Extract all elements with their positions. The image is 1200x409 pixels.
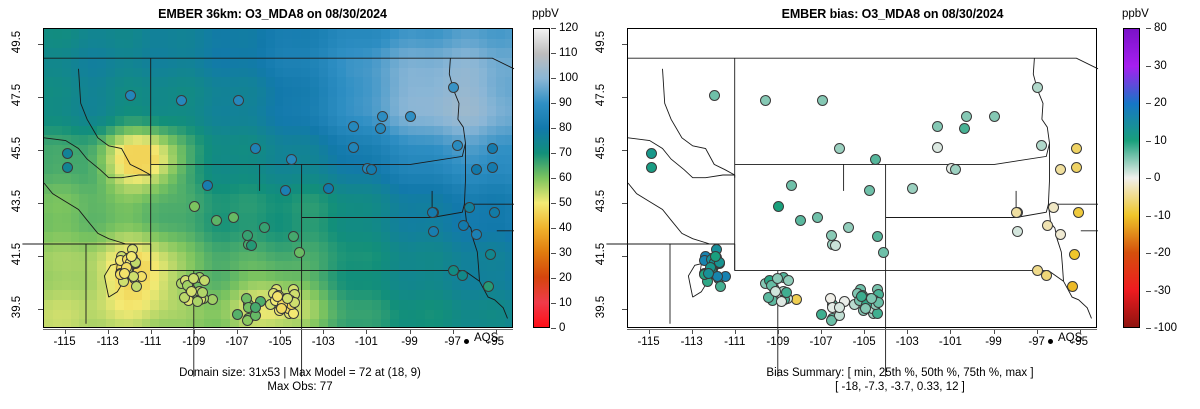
- x-tick-label: -99: [985, 336, 1002, 348]
- colorbar-tick-label: 80: [559, 122, 572, 134]
- x-tick-label: -97: [444, 336, 461, 348]
- station-marker: [710, 251, 721, 262]
- colorbar-tick: [1146, 178, 1151, 179]
- station-marker: [703, 268, 714, 279]
- panel-model-title: EMBER 36km: O3_MDA8 on 08/30/2024: [0, 7, 545, 21]
- station-marker: [288, 231, 299, 242]
- colorbar-tick: [1146, 216, 1151, 217]
- station-marker: [294, 247, 305, 258]
- panel-bias-title: EMBER bias: O3_MDA8 on 08/30/2024: [620, 7, 1165, 21]
- station-marker: [795, 215, 806, 226]
- station-marker: [228, 212, 239, 223]
- colorbar-tick-label: 0: [559, 322, 565, 334]
- station-marker: [817, 95, 828, 106]
- y-tick: [38, 150, 43, 151]
- station-marker: [452, 140, 463, 151]
- station-marker: [448, 82, 459, 93]
- colorbar-tick: [551, 253, 556, 254]
- figure-root: EMBER 36km: O3_MDA8 on 08/30/2024 AQS -1…: [0, 0, 1200, 409]
- colorbar-tick-label: 20: [1154, 97, 1167, 109]
- station-marker: [1055, 164, 1066, 175]
- station-marker: [366, 164, 377, 175]
- station-marker: [959, 123, 970, 134]
- station-marker: [1071, 162, 1082, 173]
- station-marker: [119, 268, 130, 279]
- station-marker: [872, 231, 883, 242]
- colorbar-tick-label: 10: [1154, 135, 1167, 147]
- y-tick: [38, 97, 43, 98]
- station-marker: [211, 215, 222, 226]
- station-marker: [834, 302, 845, 313]
- colorbar-tick-label: 0: [1154, 172, 1160, 184]
- station-marker: [131, 281, 142, 292]
- colorbar-tick: [1146, 66, 1151, 67]
- station-marker: [932, 121, 943, 132]
- station-marker: [348, 142, 359, 153]
- y-tick-label: 41.5: [595, 239, 607, 269]
- x-tick-label: -113: [97, 336, 119, 348]
- station-marker: [125, 90, 136, 101]
- y-tick-label: 49.5: [11, 27, 23, 57]
- station-marker: [715, 281, 726, 292]
- y-tick-label: 43.5: [595, 186, 607, 216]
- x-tick-label: -101: [355, 336, 378, 348]
- station-marker: [286, 154, 297, 165]
- station-marker: [932, 142, 943, 153]
- colorbar-tick-label: 30: [1154, 60, 1167, 72]
- station-marker: [186, 286, 197, 297]
- x-tick-label: -111: [724, 336, 745, 348]
- station-marker: [816, 309, 827, 320]
- colorbar-tick-label: 90: [559, 97, 572, 109]
- station-marker: [1012, 226, 1023, 237]
- station-marker: [405, 111, 416, 122]
- station-marker: [464, 202, 475, 213]
- x-tick-label: -101: [939, 336, 962, 348]
- colorbar-tick-label: -10: [1154, 210, 1171, 222]
- colorbar-tick: [551, 28, 556, 29]
- x-tick-label: -111: [140, 336, 161, 348]
- colorbar-tick: [551, 128, 556, 129]
- colorbar-tick: [551, 53, 556, 54]
- x-tick-label: -115: [637, 336, 659, 348]
- colorbar-tick-label: 110: [559, 47, 577, 59]
- panel-bias: EMBER bias: O3_MDA8 on 08/30/2024 AQS -1…: [600, 0, 1200, 409]
- bias-colorbar-unit: ppbV: [1122, 8, 1149, 20]
- colorbar-tick: [551, 153, 556, 154]
- station-marker: [812, 212, 823, 223]
- y-tick: [622, 203, 627, 204]
- y-tick-label: 39.5: [595, 292, 607, 322]
- station-marker: [458, 220, 469, 231]
- colorbar-tick-label: -30: [1154, 285, 1171, 297]
- station-marker: [773, 201, 784, 212]
- y-tick: [38, 256, 43, 257]
- station-marker: [62, 162, 73, 173]
- colorbar-tick-label: 60: [559, 172, 572, 184]
- bias-colorbar-ticks: -100-30-20-10010203080: [1115, 28, 1200, 328]
- colorbar-tick: [551, 278, 556, 279]
- bias-y-axis: 39.541.543.545.547.549.5: [584, 28, 627, 328]
- station-marker: [712, 271, 723, 282]
- station-marker: [870, 154, 881, 165]
- station-marker: [128, 271, 139, 282]
- station-marker: [276, 303, 287, 314]
- station-marker: [950, 164, 961, 175]
- station-marker: [428, 226, 439, 237]
- bias-caption-line2: [ -18, -7.3, -3.7, 0.33, 12 ]: [600, 380, 1200, 394]
- colorbar-tick-label: 120: [559, 22, 578, 34]
- colorbar-tick: [1146, 291, 1151, 292]
- bias-x-axis: -115-113-111-109-107-105-103-101-99-97-9…: [627, 329, 1097, 359]
- x-tick-label: -105: [269, 336, 292, 348]
- colorbar-tick-label: 30: [559, 247, 572, 259]
- station-marker: [377, 111, 388, 122]
- colorbar-tick-label: 100: [559, 72, 578, 84]
- colorbar-tick-label: -100: [1154, 322, 1177, 334]
- y-tick: [622, 150, 627, 151]
- station-marker: [188, 273, 199, 284]
- station-marker: [192, 296, 203, 307]
- station-marker: [866, 293, 877, 304]
- y-tick-label: 39.5: [11, 292, 23, 322]
- model-x-axis: -115-113-111-109-107-105-103-101-99-97-9…: [43, 329, 513, 359]
- station-marker: [232, 309, 243, 320]
- station-marker: [489, 207, 500, 218]
- station-marker: [989, 111, 1000, 122]
- station-marker: [282, 293, 293, 304]
- model-y-axis: 39.541.543.545.547.549.5: [0, 28, 43, 328]
- y-tick: [622, 309, 627, 310]
- x-tick-label: -99: [401, 336, 418, 348]
- colorbar-tick-label: 70: [559, 147, 572, 159]
- station-marker: [1036, 140, 1047, 151]
- model-caption-line1: Domain size: 31x53 | Max Model = 72 at (…: [0, 366, 600, 380]
- station-marker: [126, 251, 137, 262]
- x-tick-label: -113: [681, 336, 703, 348]
- x-tick-label: -115: [53, 336, 75, 348]
- y-tick: [622, 44, 627, 45]
- station-marker: [864, 185, 875, 196]
- x-tick-label: -103: [896, 336, 919, 348]
- station-marker: [1069, 249, 1080, 260]
- station-marker: [783, 275, 794, 286]
- y-tick-label: 41.5: [11, 239, 23, 269]
- x-tick-label: -103: [312, 336, 335, 348]
- station-marker: [250, 143, 261, 154]
- station-marker: [770, 286, 781, 297]
- station-marker: [1055, 229, 1066, 240]
- x-axis-line: [627, 329, 1097, 330]
- station-marker: [471, 164, 482, 175]
- station-marker: [176, 95, 187, 106]
- station-marker: [786, 180, 797, 191]
- bias-colorbar: ppbV -100-30-20-10010203080: [1115, 28, 1200, 328]
- station-marker: [348, 121, 359, 132]
- station-marker: [471, 229, 482, 240]
- model-caption-line2: Max Obs: 77: [0, 380, 600, 394]
- x-axis-line: [43, 329, 513, 330]
- y-tick: [38, 203, 43, 204]
- colorbar-tick: [551, 303, 556, 304]
- station-marker: [1067, 281, 1078, 292]
- model-station-markers: [44, 29, 512, 327]
- station-marker: [830, 240, 841, 251]
- station-marker: [280, 185, 291, 196]
- panel-model: EMBER 36km: O3_MDA8 on 08/30/2024 AQS -1…: [0, 0, 600, 409]
- colorbar-tick: [551, 78, 556, 79]
- station-marker: [860, 303, 871, 314]
- station-marker: [202, 180, 213, 191]
- station-marker: [323, 183, 334, 194]
- y-tick: [38, 309, 43, 310]
- station-marker: [1071, 143, 1082, 154]
- colorbar-tick: [551, 203, 556, 204]
- bias-plot-frame: AQS: [627, 28, 1097, 328]
- model-colorbar-unit: ppbV: [532, 8, 559, 20]
- station-marker: [646, 162, 657, 173]
- station-marker: [961, 111, 972, 122]
- x-tick-label: -95: [1071, 336, 1088, 348]
- x-tick-label: -107: [810, 336, 833, 348]
- station-marker: [199, 275, 210, 286]
- station-marker: [843, 222, 854, 233]
- y-tick: [622, 256, 627, 257]
- y-tick-label: 47.5: [11, 80, 23, 110]
- y-tick-label: 49.5: [595, 27, 607, 57]
- station-marker: [878, 247, 889, 258]
- x-tick-label: -105: [853, 336, 876, 348]
- station-marker: [487, 162, 498, 173]
- colorbar-tick: [1146, 103, 1151, 104]
- colorbar-tick: [1146, 328, 1151, 329]
- colorbar-tick-label: 50: [559, 197, 572, 209]
- colorbar-tick: [551, 178, 556, 179]
- colorbar-tick: [1146, 253, 1151, 254]
- bias-station-markers: [628, 29, 1096, 327]
- colorbar-tick: [1146, 28, 1151, 29]
- y-tick-label: 43.5: [11, 186, 23, 216]
- station-marker: [1048, 202, 1059, 213]
- colorbar-tick: [1146, 141, 1151, 142]
- y-tick-label: 45.5: [11, 133, 23, 163]
- station-marker: [250, 302, 261, 313]
- colorbar-tick: [551, 103, 556, 104]
- y-tick-label: 45.5: [595, 133, 607, 163]
- station-marker: [760, 95, 771, 106]
- colorbar-tick-label: 10: [559, 297, 572, 309]
- station-marker: [1032, 82, 1043, 93]
- station-marker: [487, 143, 498, 154]
- x-tick-label: -97: [1028, 336, 1045, 348]
- y-tick: [38, 44, 43, 45]
- colorbar-tick-label: 80: [1154, 22, 1167, 34]
- station-marker: [772, 273, 783, 284]
- model-plot-frame: AQS: [43, 28, 513, 328]
- colorbar-tick-label: -20: [1154, 247, 1171, 259]
- station-marker: [375, 123, 386, 134]
- station-marker: [834, 143, 845, 154]
- station-marker: [483, 281, 494, 292]
- x-tick-label: -109: [766, 336, 789, 348]
- station-marker: [485, 249, 496, 260]
- station-marker: [907, 183, 918, 194]
- y-tick-label: 47.5: [595, 80, 607, 110]
- station-marker: [646, 148, 657, 159]
- colorbar-tick-label: 20: [559, 272, 572, 284]
- bias-caption-line1: Bias Summary: [ min, 25th %, 50th %, 75t…: [600, 366, 1200, 380]
- x-tick-label: -109: [182, 336, 205, 348]
- colorbar-tick: [551, 228, 556, 229]
- station-marker: [246, 240, 257, 251]
- station-marker: [1042, 220, 1053, 231]
- station-marker: [233, 95, 244, 106]
- station-marker: [776, 296, 787, 307]
- station-marker: [189, 201, 200, 212]
- colorbar-tick: [551, 328, 556, 329]
- x-tick-label: -95: [487, 336, 504, 348]
- y-tick: [622, 97, 627, 98]
- colorbar-tick-label: 40: [559, 222, 572, 234]
- station-marker: [62, 148, 73, 159]
- station-marker: [709, 90, 720, 101]
- station-marker: [259, 222, 270, 233]
- x-tick-label: -107: [226, 336, 249, 348]
- station-marker: [1073, 207, 1084, 218]
